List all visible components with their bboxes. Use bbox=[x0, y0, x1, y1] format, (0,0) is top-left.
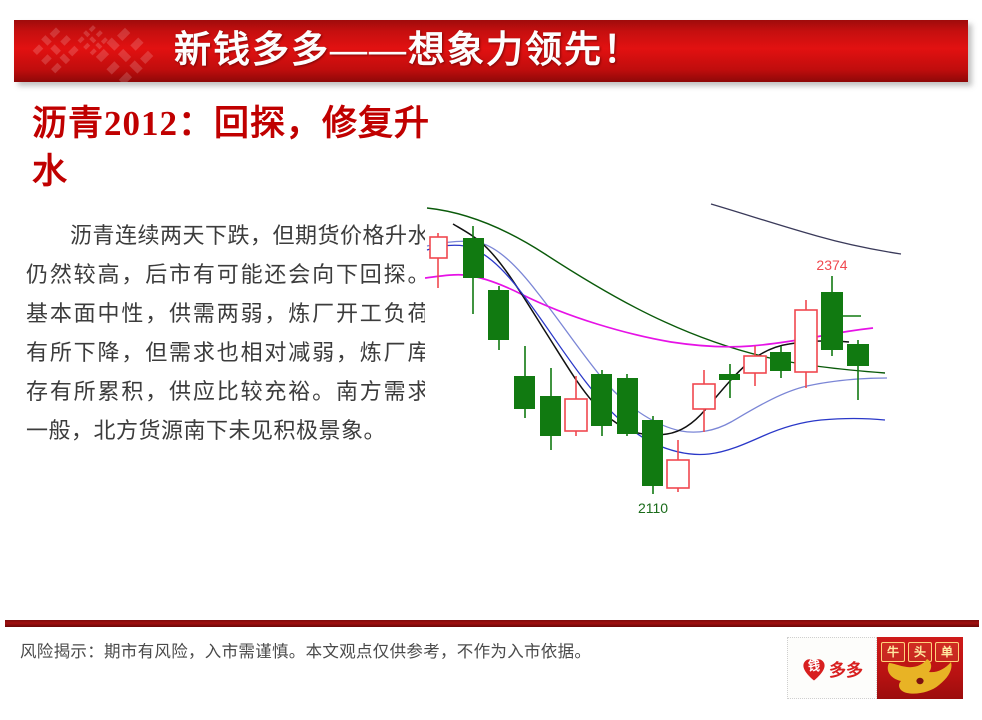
candle-4 bbox=[540, 368, 561, 450]
candle-10 bbox=[693, 370, 715, 432]
ma-top-segment-line bbox=[711, 204, 901, 254]
candlestick-chart: 2374 2110 bbox=[425, 188, 925, 533]
candle-11 bbox=[719, 364, 740, 398]
header-banner: 新钱多多——想象力领先！ bbox=[14, 20, 968, 82]
qianduoduo-logo: 钱 多多 bbox=[787, 637, 877, 699]
candle-9 bbox=[667, 440, 689, 492]
footer-divider bbox=[5, 620, 979, 627]
candle-6 bbox=[591, 370, 612, 436]
header-title: 新钱多多——想象力领先！ bbox=[174, 26, 954, 78]
body-paragraph: 沥青连续两天下跌，但期货价格升水仍然较高，后市有可能还会向下回探。基本面中性，供… bbox=[26, 216, 430, 450]
annotation-low-2110: 2110 bbox=[638, 500, 668, 516]
niutoudan-logo: 牛 头 单 bbox=[877, 637, 963, 699]
logo-duoduo-text: 多多 bbox=[829, 656, 863, 681]
candle-1 bbox=[463, 226, 484, 314]
bull-head-icon bbox=[883, 659, 957, 695]
footer-logo: 钱 多多 牛 头 单 bbox=[787, 637, 965, 699]
page-title: 沥青2012：回探，修复升水 bbox=[32, 100, 432, 196]
candle-14 bbox=[795, 300, 817, 388]
logo-heart-char: 钱 bbox=[801, 659, 827, 674]
candle-2 bbox=[488, 286, 509, 350]
heart-icon: 钱 bbox=[801, 656, 827, 681]
candle-13 bbox=[770, 346, 791, 378]
candle-0 bbox=[430, 233, 447, 288]
chinese-knot-ornament-icon bbox=[20, 20, 170, 82]
annotation-high-2374: 2374 bbox=[816, 257, 847, 273]
candlestick-chart-svg: 2374 2110 bbox=[425, 188, 925, 533]
candle-8 bbox=[642, 416, 663, 494]
candle-7 bbox=[617, 374, 638, 436]
ma-short-line bbox=[453, 224, 849, 435]
candle-3 bbox=[514, 346, 535, 418]
candle-5 bbox=[565, 376, 587, 436]
risk-disclaimer: 风险揭示：期市有风险，入市需谨慎。本文观点仅供参考，不作为入市依据。 bbox=[20, 640, 740, 664]
